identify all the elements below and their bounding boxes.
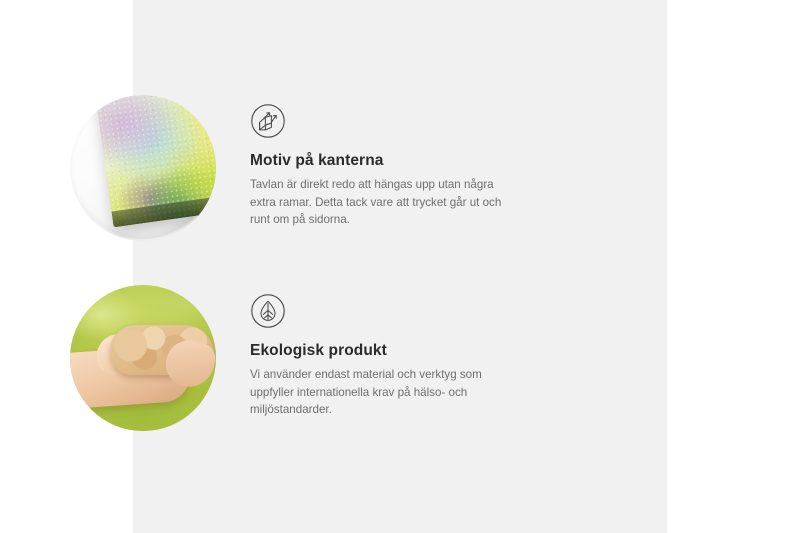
feature-description: Tavlan är direkt redo att hängas upp uta… bbox=[250, 176, 518, 228]
feature-text-column: Motiv på kanterna Tavlan är direkt redo … bbox=[250, 95, 518, 229]
hands-holding-wood-chips-photo bbox=[70, 285, 216, 431]
feature-text-column: Ekologisk produkt Vi använder endast mat… bbox=[250, 285, 518, 419]
feature-title: Ekologisk produkt bbox=[250, 341, 518, 360]
feature-block-motiv-pa-kanterna: Motiv på kanterna Tavlan är direkt redo … bbox=[70, 95, 518, 241]
canvas-wrapped-edge-icon bbox=[250, 103, 286, 139]
product-feature-infographic: Motiv på kanterna Tavlan är direkt redo … bbox=[0, 0, 800, 533]
canvas-print-corner bbox=[96, 95, 216, 227]
leaf-icon bbox=[250, 293, 286, 329]
feature-description: Vi använder endast material och verktyg … bbox=[250, 366, 518, 418]
content-panel bbox=[133, 0, 667, 533]
feature-title: Motiv på kanterna bbox=[250, 151, 518, 170]
feature-block-ekologisk-produkt: Ekologisk produkt Vi använder endast mat… bbox=[70, 285, 518, 431]
canvas-corner-photo bbox=[70, 95, 216, 241]
